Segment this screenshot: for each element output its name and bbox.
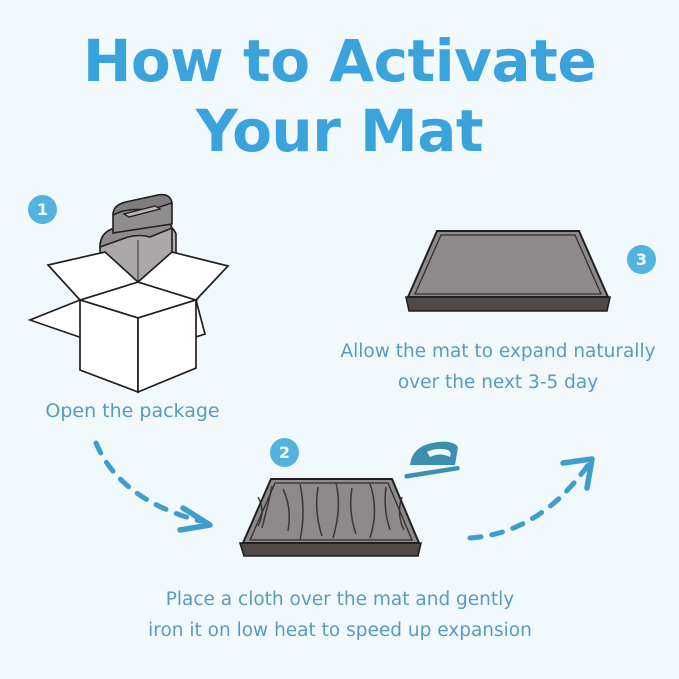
flat-mat-illustration [406,231,610,311]
title-line-1: How to Activate [0,26,679,96]
step-1-caption: Open the package [0,396,265,427]
rolled-mat-in-box [100,195,176,299]
step-3-caption-line-2: over the next 3-5 day [318,367,678,398]
step-badge-3: 3 [627,245,656,274]
step-badge-2: 2 [270,438,299,467]
step-2-caption: Place a cloth over the mat and gently ir… [75,584,605,646]
step-1-caption-line-1: Open the package [0,396,265,427]
infographic-canvas: How to Activate Your Mat [0,0,679,679]
box-flap-back-left [48,252,138,300]
dashed-arrow-up-right [470,459,592,538]
box-flap-back-right [138,252,228,300]
box-side-right [138,300,196,392]
step-3-caption: Allow the mat to expand naturally over t… [318,336,678,398]
step-badge-1: 1 [28,195,57,224]
box-side-left [80,300,138,392]
title-line-2: Your Mat [0,96,679,166]
open-box-illustration [30,195,228,392]
step-2-caption-line-2: iron it on low heat to speed up expansio… [75,615,605,646]
iron-icon [404,442,460,479]
step-3-caption-line-1: Allow the mat to expand naturally [318,336,678,367]
box-flap-front-left [30,300,138,340]
mat-crease-lines [258,483,404,540]
dashed-arrow-down-right [96,443,210,530]
box-flap-front-right [138,300,205,355]
step-2-caption-line-1: Place a cloth over the mat and gently [75,584,605,615]
page-title: How to Activate Your Mat [0,26,679,166]
